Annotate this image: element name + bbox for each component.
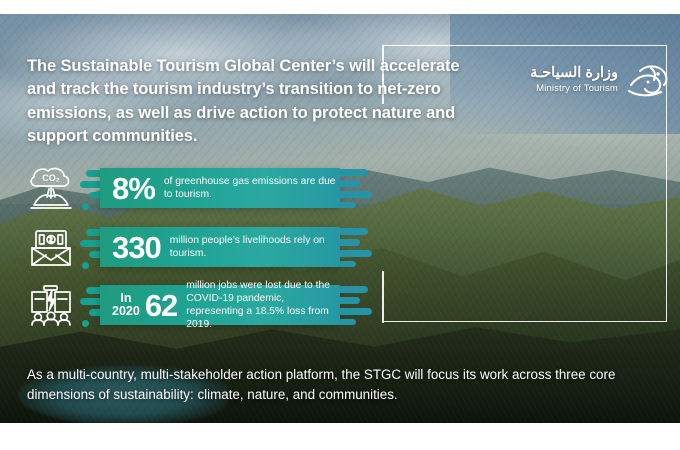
stat-value: 330	[112, 232, 161, 263]
money-envelope-icon	[22, 222, 80, 272]
stat-row: CO₂ 8% of greenhouse gas emissions are d…	[22, 163, 372, 213]
stat-description: million jobs were lost due to the COVID-…	[186, 279, 340, 332]
top-white-band	[0, 0, 680, 14]
stat-year-prefix: In 2020	[112, 292, 140, 318]
stat-bar: 8% of greenhouse gas emissions are due t…	[80, 163, 372, 213]
stat-bar-body: 330 million people’s livelihoods rely on…	[100, 227, 340, 267]
stat-description: of greenhouse gas emissions are due to t…	[164, 175, 340, 201]
page-title: The Sustainable Tourism Global Center’s …	[27, 55, 467, 149]
ministry-name-arabic: وزارة السياحـة	[530, 65, 618, 82]
stat-bar-body: In 2020 62 million jobs were lost due to…	[100, 285, 340, 325]
stat-bar-body: 8% of greenhouse gas emissions are due t…	[100, 168, 340, 208]
bar-right-dashes	[332, 222, 372, 272]
infographic-poster: The Sustainable Tourism Global Center’s …	[0, 0, 680, 450]
ministry-wordmark: وزارة السياحـة Ministry of Tourism	[530, 65, 618, 95]
footer-paragraph: As a multi-country, multi-stakeholder ac…	[27, 365, 647, 405]
briefcase-job-loss-icon	[22, 280, 80, 330]
stat-bar: In 2020 62 million jobs were lost due to…	[80, 280, 372, 330]
co2-cloud-factory-icon: CO₂	[22, 163, 80, 213]
svg-text:CO₂: CO₂	[42, 173, 60, 183]
stat-description: million people’s livelihoods rely on tou…	[170, 234, 340, 260]
ministry-name-english: Ministry of Tourism	[530, 83, 618, 95]
stat-row: In 2020 62 million jobs were lost due to…	[22, 280, 372, 330]
stat-bar: 330 million people’s livelihoods rely on…	[80, 222, 372, 272]
stat-value: 8%	[112, 173, 155, 204]
bar-right-dashes	[332, 280, 372, 330]
bar-right-dashes	[332, 163, 372, 213]
stat-row: 330 million people’s livelihoods rely on…	[22, 222, 372, 272]
stat-value: 62	[145, 290, 177, 321]
saudi-tourism-calligraphy-mark-icon	[624, 58, 670, 102]
ministry-logo: وزارة السياحـة Ministry of Tourism	[505, 56, 670, 104]
stat-prefix-line2: 2020	[112, 305, 140, 318]
bottom-white-band	[0, 423, 680, 450]
